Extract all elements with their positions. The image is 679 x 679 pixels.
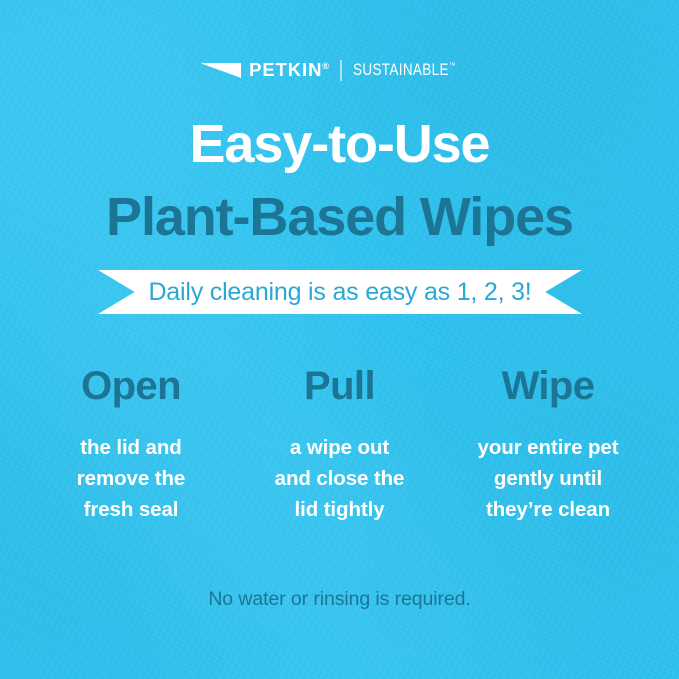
brand-name: PETKIN® <box>249 61 329 80</box>
step-title: Wipe <box>453 366 643 406</box>
brand-sub-text: SUSTAINABLE <box>353 61 449 79</box>
step-body: the lid and remove the fresh seal <box>36 432 226 525</box>
brand-divider <box>340 60 342 81</box>
brand-sub-name: SUSTAINABLE™ <box>353 62 455 79</box>
trademark-symbol: ™ <box>449 61 456 70</box>
step-open: Open the lid and remove the fresh seal <box>36 366 226 525</box>
step-body: a wipe out and close the lid tightly <box>245 432 435 525</box>
brand-name-text: PETKIN <box>249 59 322 80</box>
registered-symbol: ® <box>322 61 329 71</box>
step-body-line: the lid and <box>36 432 226 463</box>
step-body-line: they’re clean <box>453 494 643 525</box>
step-title: Open <box>36 366 226 406</box>
step-body-line: lid tightly <box>245 494 435 525</box>
step-wipe: Wipe your entire pet gently until they’r… <box>453 366 643 525</box>
headline-line-1: Easy-to-Use <box>0 117 679 171</box>
step-body-line: and close the <box>245 463 435 494</box>
infographic-content: PETKIN® SUSTAINABLE™ Easy-to-Use Plant-B… <box>0 0 679 679</box>
steps-row: Open the lid and remove the fresh seal P… <box>36 366 643 525</box>
petkin-swoosh-icon <box>201 63 241 78</box>
step-pull: Pull a wipe out and close the lid tightl… <box>245 366 435 525</box>
step-body-line: remove the <box>36 463 226 494</box>
ribbon-banner: Daily cleaning is as easy as 1, 2, 3! <box>98 270 582 314</box>
step-body-line: gently until <box>453 463 643 494</box>
step-body-line: a wipe out <box>245 432 435 463</box>
step-body-line: fresh seal <box>36 494 226 525</box>
step-body: your entire pet gently until they’re cle… <box>453 432 643 525</box>
brand-lockup: PETKIN® SUSTAINABLE™ <box>0 58 679 82</box>
headline-line-2: Plant-Based Wipes <box>0 190 679 244</box>
step-body-line: your entire pet <box>453 432 643 463</box>
infographic-page: PETKIN® SUSTAINABLE™ Easy-to-Use Plant-B… <box>0 0 679 679</box>
ribbon-text: Daily cleaning is as easy as 1, 2, 3! <box>148 280 531 305</box>
step-title: Pull <box>245 366 435 406</box>
footnote-text: No water or rinsing is required. <box>0 590 679 610</box>
